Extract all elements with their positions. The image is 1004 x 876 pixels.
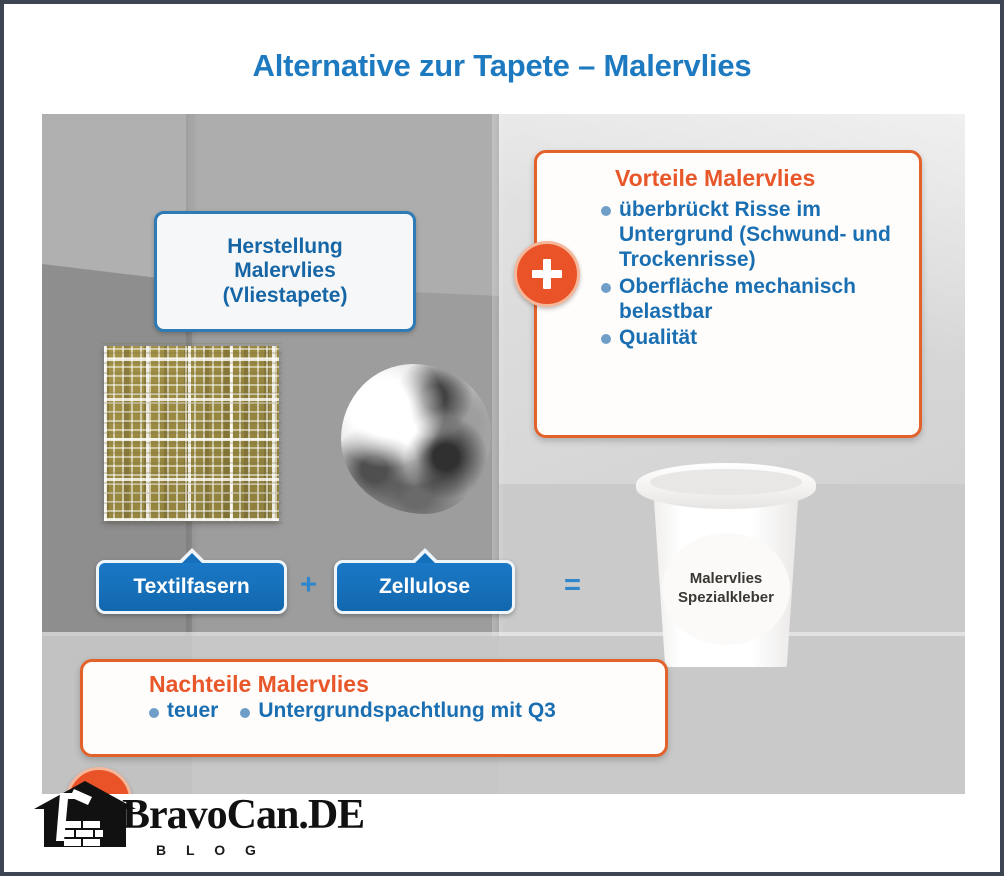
plus-icon-vertical [543,259,551,289]
vorteile-list: überbrückt Risse im Untergrund (Schwund-… [537,197,919,350]
nachteile-card: Nachteile Malervlies teuer Untergrundspa… [80,659,668,757]
bucket-label-line-2: Spezialkleber [678,589,774,606]
bucket-label-line-1: Malervlies [690,570,763,587]
herstellung-line-1: Herstellung [227,235,343,258]
nachteile-heading: Nachteile Malervlies [83,662,665,699]
textilfasern-label: Textilfasern [96,560,287,614]
zellulose-text: Zellulose [379,575,470,599]
list-item: Untergrundspachtlung mit Q3 [240,699,556,723]
list-item: Qualität [601,325,905,350]
herstellung-card: Herstellung Malervlies (Vliestapete) [154,211,416,332]
page-title: Alternative zur Tapete – Malervlies [4,48,1000,84]
woven-textile-swatch-icon [104,346,279,521]
infographic-frame: Alternative zur Tapete – Malervlies Hers… [0,0,1004,876]
zellulose-label: Zellulose [334,560,515,614]
vorteile-card: Vorteile Malervlies überbrückt Risse im … [534,150,922,438]
logo-wordmark: BravoCan.DE [122,791,364,839]
nachteile-list: teuer Untergrundspachtlung mit Q3 [83,699,665,723]
vorteile-heading: Vorteile Malervlies [537,153,919,196]
herstellung-line-2: Malervlies [234,259,336,282]
list-item: Oberfläche mechanisch belastbar [601,274,905,324]
site-logo[interactable]: BravoCan.DE B L O G [30,779,390,875]
list-item: teuer [149,699,218,723]
room-scene: Herstellung Malervlies (Vliestapete) Tex… [42,114,965,794]
logo-tagline: B L O G [156,842,264,858]
plus-operator: + [300,569,317,602]
equals-operator: = [564,569,581,602]
bucket-label: Malervlies Spezialkleber [662,533,790,645]
wall-corner-highlight [492,114,506,636]
list-item: überbrückt Risse im Untergrund (Schwund-… [601,197,905,273]
herstellung-line-3: (Vliestapete) [223,284,348,307]
glue-bucket-icon: Malervlies Spezialkleber [636,449,816,669]
plus-badge-icon [514,241,580,307]
textilfasern-text: Textilfasern [133,575,249,599]
bucket-rim-inner [650,469,802,495]
